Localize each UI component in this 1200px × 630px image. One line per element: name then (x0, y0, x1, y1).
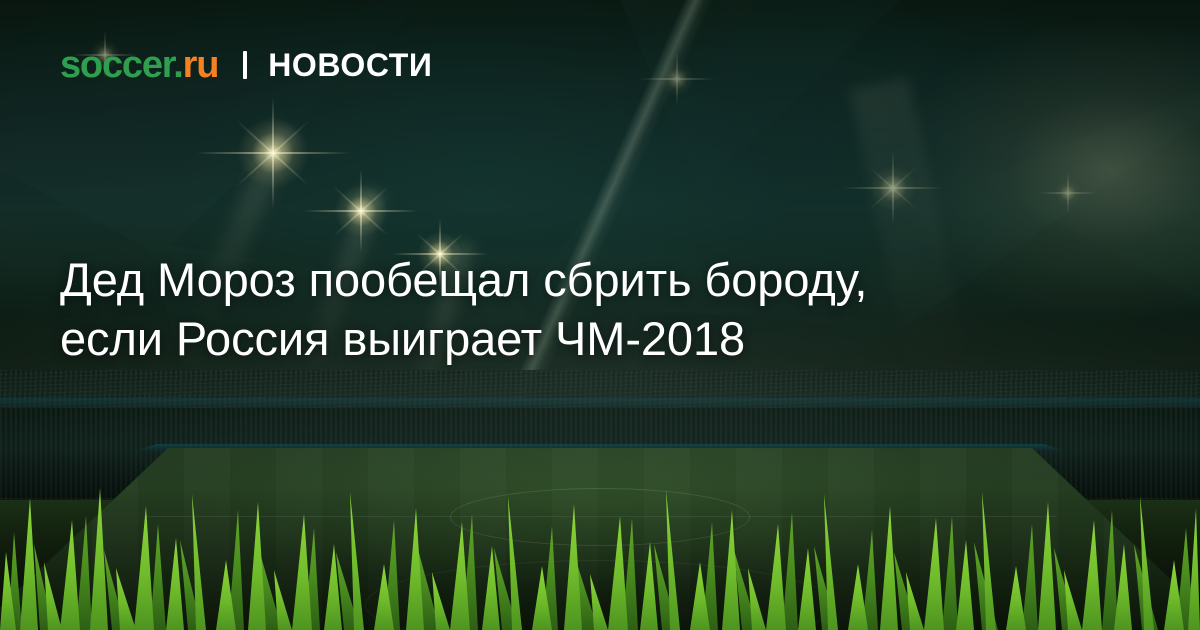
logo-primary-text: soccer. (60, 44, 183, 86)
foreground-grass (0, 480, 1200, 630)
soccer-ru-logo[interactable]: soccer.ru (60, 46, 218, 84)
section-label: НОВОСТИ (268, 49, 432, 81)
header-separator (243, 51, 247, 79)
article-headline: Дед Мороз пообещал сбрить бороду,если Ро… (60, 250, 1150, 368)
social-share-card: soccer.ru НОВОСТИ Дед Мороз пообещал сбр… (0, 0, 1200, 630)
headline-line-1: Дед Мороз пообещал сбрить бороду, (60, 253, 867, 306)
headline-line-2: если Россия выиграет ЧМ-2018 (60, 312, 745, 365)
site-header: soccer.ru НОВОСТИ (60, 46, 432, 84)
logo-accent-text: ru (183, 44, 219, 86)
